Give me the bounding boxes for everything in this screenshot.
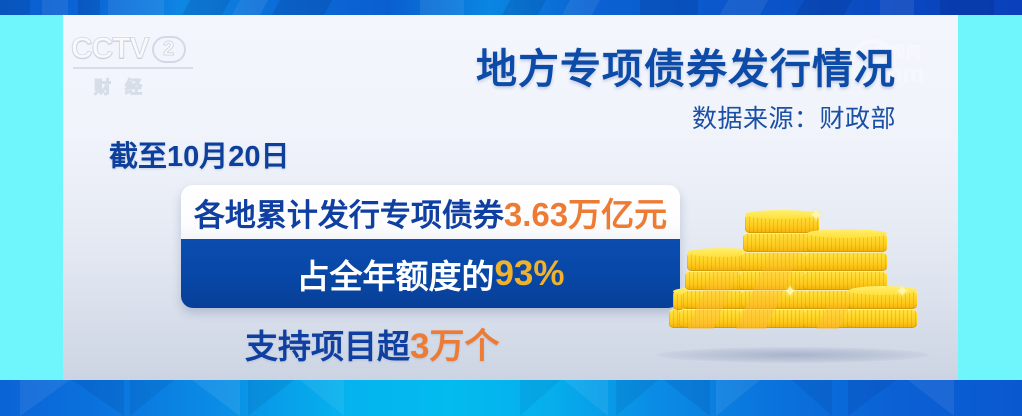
data-source-label: 数据来源：财政部 [692,99,896,135]
cctv-channel-number: 2 [152,36,186,63]
right-cyan-rail [958,15,1022,380]
cctv-logo-underline [73,67,193,69]
cctv-logo-subtitle: 财经 [68,73,218,98]
cctv-logo-text: CCTV [71,32,149,66]
projects-supported-value: 3万个 [410,318,499,369]
issuance-label: 各地累计发行专项债券 [194,190,504,235]
page-title: 地方专项债券发行情况 [476,35,896,95]
stat-banner: 各地累计发行专项债券 3.63万亿元 占全年额度的 93% [181,185,680,308]
gold-coin-stack-icon: ✦ ✦ ✦ [643,187,943,377]
projects-supported-line: 支持项目超 3万个 [245,318,499,369]
bottom-decoration-bar [0,380,1022,416]
quota-share-value: 93% [494,254,564,294]
quota-share-label: 占全年额度的 [296,250,494,298]
projects-supported-label: 支持项目超 [245,320,410,368]
content-panel: CCTV 2 财经 央视网 .com 地方专项债券发行情况 数据来源：财政部 截… [63,15,958,380]
stat-row-issuance: 各地累计发行专项债券 3.63万亿元 [181,185,680,239]
cctv2-logo: CCTV 2 财经 [68,32,218,102]
broadcast-graphic-screen: CCTV 2 财经 央视网 .com 地方专项债券发行情况 数据来源：财政部 截… [0,0,1022,416]
top-decoration-bar [0,0,1022,15]
as-of-date: 截至10月20日 [109,133,290,175]
left-cyan-rail [0,15,63,380]
stat-row-quota-share: 占全年额度的 93% [181,239,680,308]
coin-stack-shadow [657,347,929,363]
